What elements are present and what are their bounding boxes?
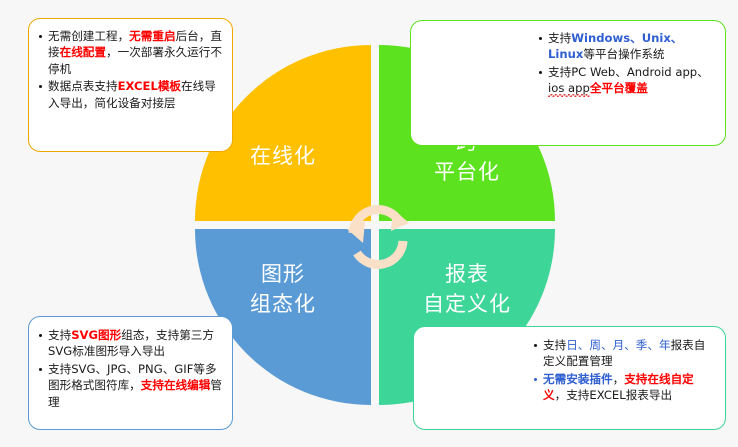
callout-bottom-left-list: 支持SVG图形组态，支持第三方SVG标准图形导入导出 支持SVG、JPG、PNG… xyxy=(29,317,232,410)
text-run: EXCEL模板 xyxy=(118,79,181,93)
list-item: 无需安装插件，支持在线自定义，支持EXCEL报表导出 xyxy=(532,371,713,404)
list-item: 支持SVG、JPG、PNG、GIF等多图形格式图符库，支持在线编辑管理 xyxy=(37,361,222,410)
text-run: SVG图形 xyxy=(71,328,121,342)
callout-bottom-left: 支持SVG图形组态，支持第三方SVG标准图形导入导出 支持SVG、JPG、PNG… xyxy=(28,316,233,430)
text-run: ios app xyxy=(548,81,590,97)
rotation-arrows-icon xyxy=(333,181,423,271)
text-run: 无需安装插件 xyxy=(543,372,613,386)
callout-bottom-right: 支持日、周、月、季、年报表自定义配置管理 无需安装插件，支持在线自定义，支持EX… xyxy=(413,326,726,430)
infographic-canvas: 在线化 跨 平台化 图形 组态化 报表 自定义化 无需创建工程，无需重启后台，直… xyxy=(0,0,738,447)
text-run: 数据点表支持 xyxy=(48,79,118,93)
text-run: 在线配置 xyxy=(60,45,106,59)
list-item: 数据点表支持EXCEL模板在线导入导出，简化设备对接层 xyxy=(37,78,222,111)
callout-bottom-right-list: 支持日、周、月、季、年报表自定义配置管理 无需安装插件，支持在线自定义，支持EX… xyxy=(414,327,725,404)
text-run: 无需重启 xyxy=(129,29,175,43)
text-run: 支持 xyxy=(48,328,71,342)
text-run: 支持 xyxy=(548,31,571,45)
text-run: 支持在线编辑 xyxy=(141,378,211,392)
text-run: ，支持EXCEL报表导出 xyxy=(555,388,672,402)
list-item: 支持日、周、月、季、年报表自定义配置管理 xyxy=(532,337,713,370)
callout-top-right-list: 支持Windows、Unix、Linux等平台操作系统 支持PC Web、And… xyxy=(411,21,725,97)
text-run: 无需创建工程， xyxy=(48,29,129,43)
callout-top-right: 支持Windows、Unix、Linux等平台操作系统 支持PC Web、And… xyxy=(410,20,726,146)
text-run: 全平台覆盖 xyxy=(590,81,648,95)
callout-top-left: 无需创建工程，无需重启后台，直接在线配置，一次部署永久运行不停机 数据点表支持E… xyxy=(28,18,233,152)
list-item: 支持Windows、Unix、Linux等平台操作系统 xyxy=(537,30,715,63)
text-run: 支持PC Web、Android app、 xyxy=(548,65,709,79)
list-item: 支持PC Web、Android app、ios app全平台覆盖 xyxy=(537,64,715,97)
text-run: ， xyxy=(613,372,625,386)
text-run: 日、周、月、季、年 xyxy=(566,338,670,352)
text-run: 等平台操作系统 xyxy=(583,47,664,61)
list-item: 支持SVG图形组态，支持第三方SVG标准图形导入导出 xyxy=(37,327,222,360)
text-run: 支持 xyxy=(543,338,566,352)
list-item: 无需创建工程，无需重启后台，直接在线配置，一次部署永久运行不停机 xyxy=(37,28,222,77)
callout-top-left-list: 无需创建工程，无需重启后台，直接在线配置，一次部署永久运行不停机 数据点表支持E… xyxy=(29,19,232,111)
